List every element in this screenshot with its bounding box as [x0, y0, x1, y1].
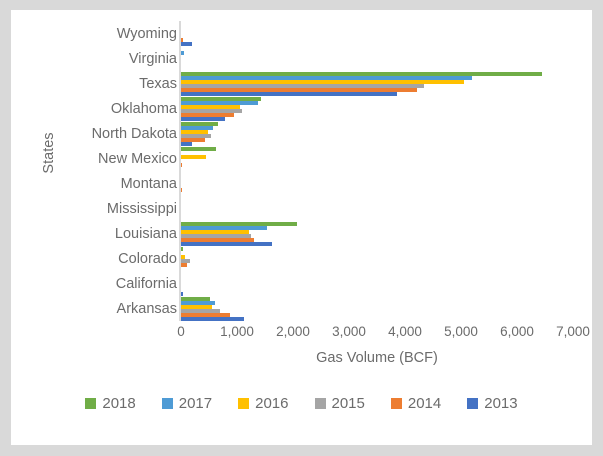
bar [181, 247, 183, 251]
bar-group [181, 247, 573, 271]
x-tick-label: 4,000 [388, 324, 422, 339]
category-label: Mississippi [29, 202, 177, 217]
bar-group [181, 22, 573, 46]
x-tick-label: 2,000 [276, 324, 310, 339]
x-tick-label: 1,000 [220, 324, 254, 339]
bar [181, 188, 182, 192]
bar [181, 317, 244, 321]
legend-item-2016[interactable]: 2016 [238, 395, 288, 412]
legend-label: 2014 [408, 395, 441, 412]
legend-color-swatch [467, 398, 478, 409]
bar [181, 42, 192, 46]
bar [181, 92, 397, 96]
category-label: New Mexico [29, 152, 177, 167]
legend-item-2013[interactable]: 2013 [467, 395, 517, 412]
legend-item-2018[interactable]: 2018 [85, 395, 135, 412]
bar [181, 292, 183, 296]
legend-item-2017[interactable]: 2017 [162, 395, 212, 412]
legend-item-2014[interactable]: 2014 [391, 395, 441, 412]
x-tick-label: 7,000 [556, 324, 590, 339]
legend-item-2015[interactable]: 2015 [315, 395, 365, 412]
x-tick-label: 6,000 [500, 324, 534, 339]
category-label: Montana [29, 177, 177, 192]
legend-label: 2016 [255, 395, 288, 412]
x-tick-label: 3,000 [332, 324, 366, 339]
bar [181, 263, 187, 267]
legend-color-swatch [238, 398, 249, 409]
legend-color-swatch [315, 398, 326, 409]
bar [181, 142, 192, 146]
legend-label: 2013 [484, 395, 517, 412]
category-label: North Dakota [29, 127, 177, 142]
bar [181, 242, 272, 246]
x-tick-label: 0 [177, 324, 185, 339]
category-label: Louisiana [29, 227, 177, 242]
bar-group [181, 297, 573, 321]
category-axis-labels: WyomingVirginiaTexasOklahomaNorth Dakota… [29, 21, 177, 321]
bar [181, 117, 225, 121]
bar-group [181, 122, 573, 146]
chart-container: States WyomingVirginiaTexasOklahomaNorth… [11, 10, 592, 445]
bar-group [181, 47, 573, 71]
legend-color-swatch [85, 398, 96, 409]
bar-group [181, 97, 573, 121]
bar [181, 147, 216, 151]
bar-group [181, 197, 573, 221]
x-axis-tick-labels: 01,0002,0003,0004,0005,0006,0007,000 [11, 324, 592, 344]
legend-color-swatch [162, 398, 173, 409]
bar-group [181, 172, 573, 196]
legend-label: 2017 [179, 395, 212, 412]
bar [181, 155, 206, 159]
category-label: California [29, 277, 177, 292]
legend-color-swatch [391, 398, 402, 409]
bar [181, 163, 182, 167]
bars-area [181, 21, 573, 321]
plot-area: States WyomingVirginiaTexasOklahomaNorth… [11, 10, 592, 340]
category-label: Colorado [29, 252, 177, 267]
bar-group [181, 272, 573, 296]
category-label: Arkansas [29, 302, 177, 317]
bar [181, 51, 184, 55]
bar-group [181, 222, 573, 246]
x-axis-title: Gas Volume (BCF) [181, 350, 573, 366]
category-label: Virginia [29, 52, 177, 67]
x-tick-label: 5,000 [444, 324, 478, 339]
category-label: Wyoming [29, 27, 177, 42]
bar-group [181, 147, 573, 171]
category-label: Oklahoma [29, 102, 177, 117]
legend-label: 2018 [102, 395, 135, 412]
bar-group [181, 72, 573, 96]
chart-legend: 201820172016201520142013 [11, 395, 592, 412]
category-label: Texas [29, 77, 177, 92]
legend-label: 2015 [332, 395, 365, 412]
